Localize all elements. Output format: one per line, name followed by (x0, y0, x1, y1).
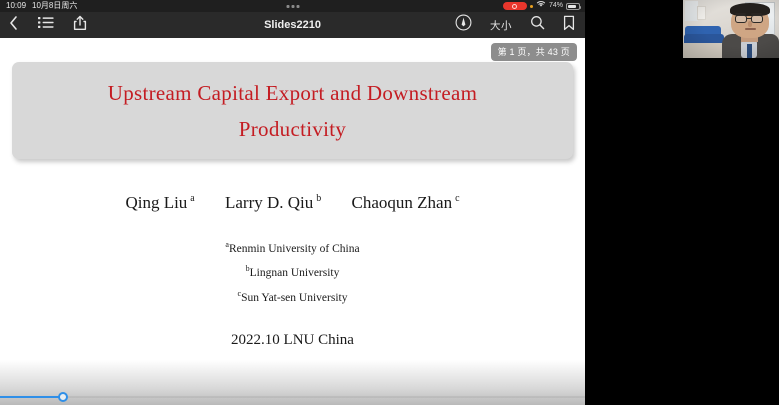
slide-title-line-1: Upstream Capital Export and Downstream (108, 75, 477, 111)
search-icon[interactable] (530, 15, 545, 35)
slide-title-box: Upstream Capital Export and Downstream P… (12, 62, 573, 159)
author-entry: Larry D. Qiub (225, 193, 326, 212)
venue-line: 2022.10 LNU China (0, 332, 585, 349)
status-bar-right: 74% (503, 0, 580, 12)
handle-dot (286, 5, 289, 8)
affiliation-entry: bLingnan University (0, 259, 585, 283)
affiliation-entry: aRenmin University of China (0, 235, 585, 259)
status-bar-left: 10:09 10月8日周六 (6, 0, 77, 12)
page-scrubber[interactable] (0, 391, 585, 403)
battery-percentage: 74% (549, 0, 563, 12)
author-entry: Chaoqun Zhanc (352, 193, 460, 212)
author-mark: a (190, 193, 194, 204)
ipad-document-window: 10:09 10月8日周六 74% (0, 0, 585, 405)
ios-status-bar: 10:09 10月8日周六 74% (0, 0, 585, 12)
presenter-video-feed[interactable] (683, 0, 779, 58)
affiliation-name: Sun Yat-sen University (241, 291, 347, 303)
share-up-icon[interactable] (73, 15, 87, 36)
slide-viewport[interactable]: 第 1 页，共 43 页 Upstream Capital Export and… (0, 38, 585, 405)
mic-in-use-indicator (530, 5, 533, 8)
author-name: Qing Liu (125, 193, 187, 212)
slide-body: Qing Liua Larry D. Qiub Chaoqun Zhanc aR… (0, 166, 585, 376)
toolbar-left-group (8, 12, 87, 38)
handle-dot (291, 5, 294, 8)
bookmark-icon[interactable] (563, 15, 575, 36)
video-vignette (683, 0, 779, 58)
page-indicator-badge: 第 1 页，共 43 页 (491, 43, 577, 61)
chevron-left-icon[interactable] (8, 15, 19, 36)
affiliation-list: aRenmin University of China bLingnan Uni… (0, 235, 585, 308)
screen-record-icon (503, 2, 527, 10)
toolbar-right-group: 大小 (455, 12, 575, 38)
status-time: 10:09 (6, 0, 26, 12)
affiliation-name: Renmin University of China (229, 243, 360, 255)
markup-pencil-icon[interactable] (455, 14, 472, 36)
author-mark: b (316, 193, 321, 204)
battery-fill (568, 5, 576, 8)
wifi-icon (536, 0, 546, 12)
author-name: Larry D. Qiu (225, 193, 313, 212)
battery-icon (566, 3, 580, 10)
affiliation-entry: cSun Yat-sen University (0, 284, 585, 308)
status-date: 10月8日周六 (32, 0, 77, 12)
multitasking-handle[interactable] (286, 0, 299, 12)
scrubber-handle[interactable] (58, 392, 68, 402)
author-name: Chaoqun Zhan (352, 193, 453, 212)
record-ring (512, 4, 517, 9)
slide-title-line-2: Productivity (239, 111, 346, 147)
author-list: Qing Liua Larry D. Qiub Chaoqun Zhanc (0, 193, 585, 213)
handle-dot (296, 5, 299, 8)
scrubber-progress (0, 396, 62, 398)
author-mark: c (455, 193, 459, 204)
author-entry: Qing Liua (125, 193, 199, 212)
document-toolbar: Slides2210 (0, 12, 585, 38)
scrubber-track[interactable] (0, 396, 585, 398)
affiliation-name: Lingnan University (250, 267, 340, 279)
text-size-button[interactable]: 大小 (490, 18, 512, 33)
list-bullet-icon[interactable] (38, 16, 54, 34)
